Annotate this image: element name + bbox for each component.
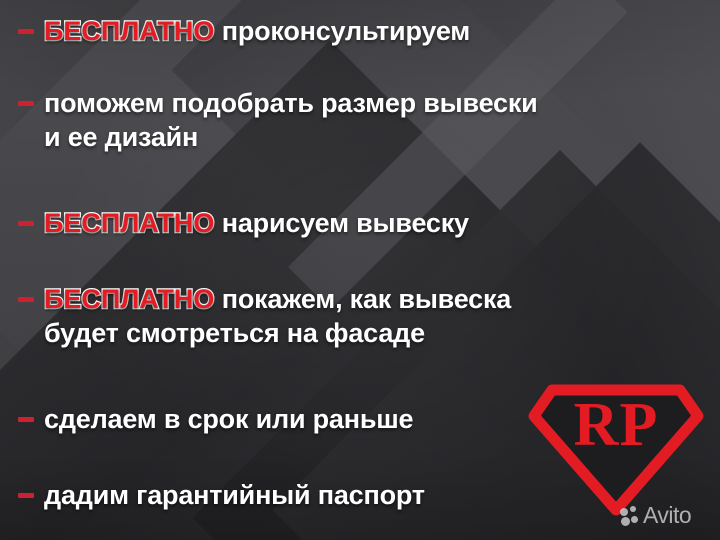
bullet-dash-icon [18, 101, 34, 106]
list-item: сделаем в срок или раньше [18, 402, 413, 436]
avito-watermark: Avito [620, 504, 691, 527]
bullet-dash-icon [18, 493, 34, 498]
rp-logo: RP [528, 384, 704, 516]
highlight-free-label: БЕСПЛАТНО [44, 16, 214, 46]
list-item: дадим гарантийный паспорт [18, 478, 425, 512]
bullet-dash-icon [18, 29, 34, 34]
list-item-rest: проконсультируем [214, 16, 470, 46]
list-item-rest: дадим гарантийный паспорт [44, 480, 425, 510]
list-item-text: дадим гарантийный паспорт [44, 478, 425, 512]
advertisement-banner: БЕСПЛАТНО проконсультируем поможем подоб… [0, 0, 720, 540]
rp-logo-letters: RP [528, 394, 704, 456]
highlight-free-label: БЕСПЛАТНО [44, 208, 214, 238]
list-item-text: сделаем в срок или раньше [44, 402, 413, 436]
list-item: БЕСПЛАТНО проконсультируем [18, 14, 470, 48]
avito-brand-label: Avito [643, 504, 691, 527]
list-item: БЕСПЛАТНО покажем, как вывеска будет смо… [18, 282, 511, 350]
list-item-text: БЕСПЛАТНО покажем, как вывеска будет смо… [44, 282, 511, 350]
list-item-rest: нарисуем вывеску [214, 208, 468, 238]
list-item: поможем подобрать размер вывески и ее ди… [18, 86, 538, 154]
avito-dots-icon [620, 506, 640, 526]
list-item-text: БЕСПЛАТНО нарисуем вывеску [44, 206, 469, 240]
bullet-dash-icon [18, 221, 34, 226]
bullet-dash-icon [18, 297, 34, 302]
bullet-dash-icon [18, 417, 34, 422]
list-item-rest: поможем подобрать размер вывески и ее ди… [44, 88, 538, 152]
list-item-text: БЕСПЛАТНО проконсультируем [44, 14, 470, 48]
list-item: БЕСПЛАТНО нарисуем вывеску [18, 206, 469, 240]
highlight-free-label: БЕСПЛАТНО [44, 284, 214, 314]
list-item-rest: сделаем в срок или раньше [44, 404, 413, 434]
list-item-text: поможем подобрать размер вывески и ее ди… [44, 86, 538, 154]
